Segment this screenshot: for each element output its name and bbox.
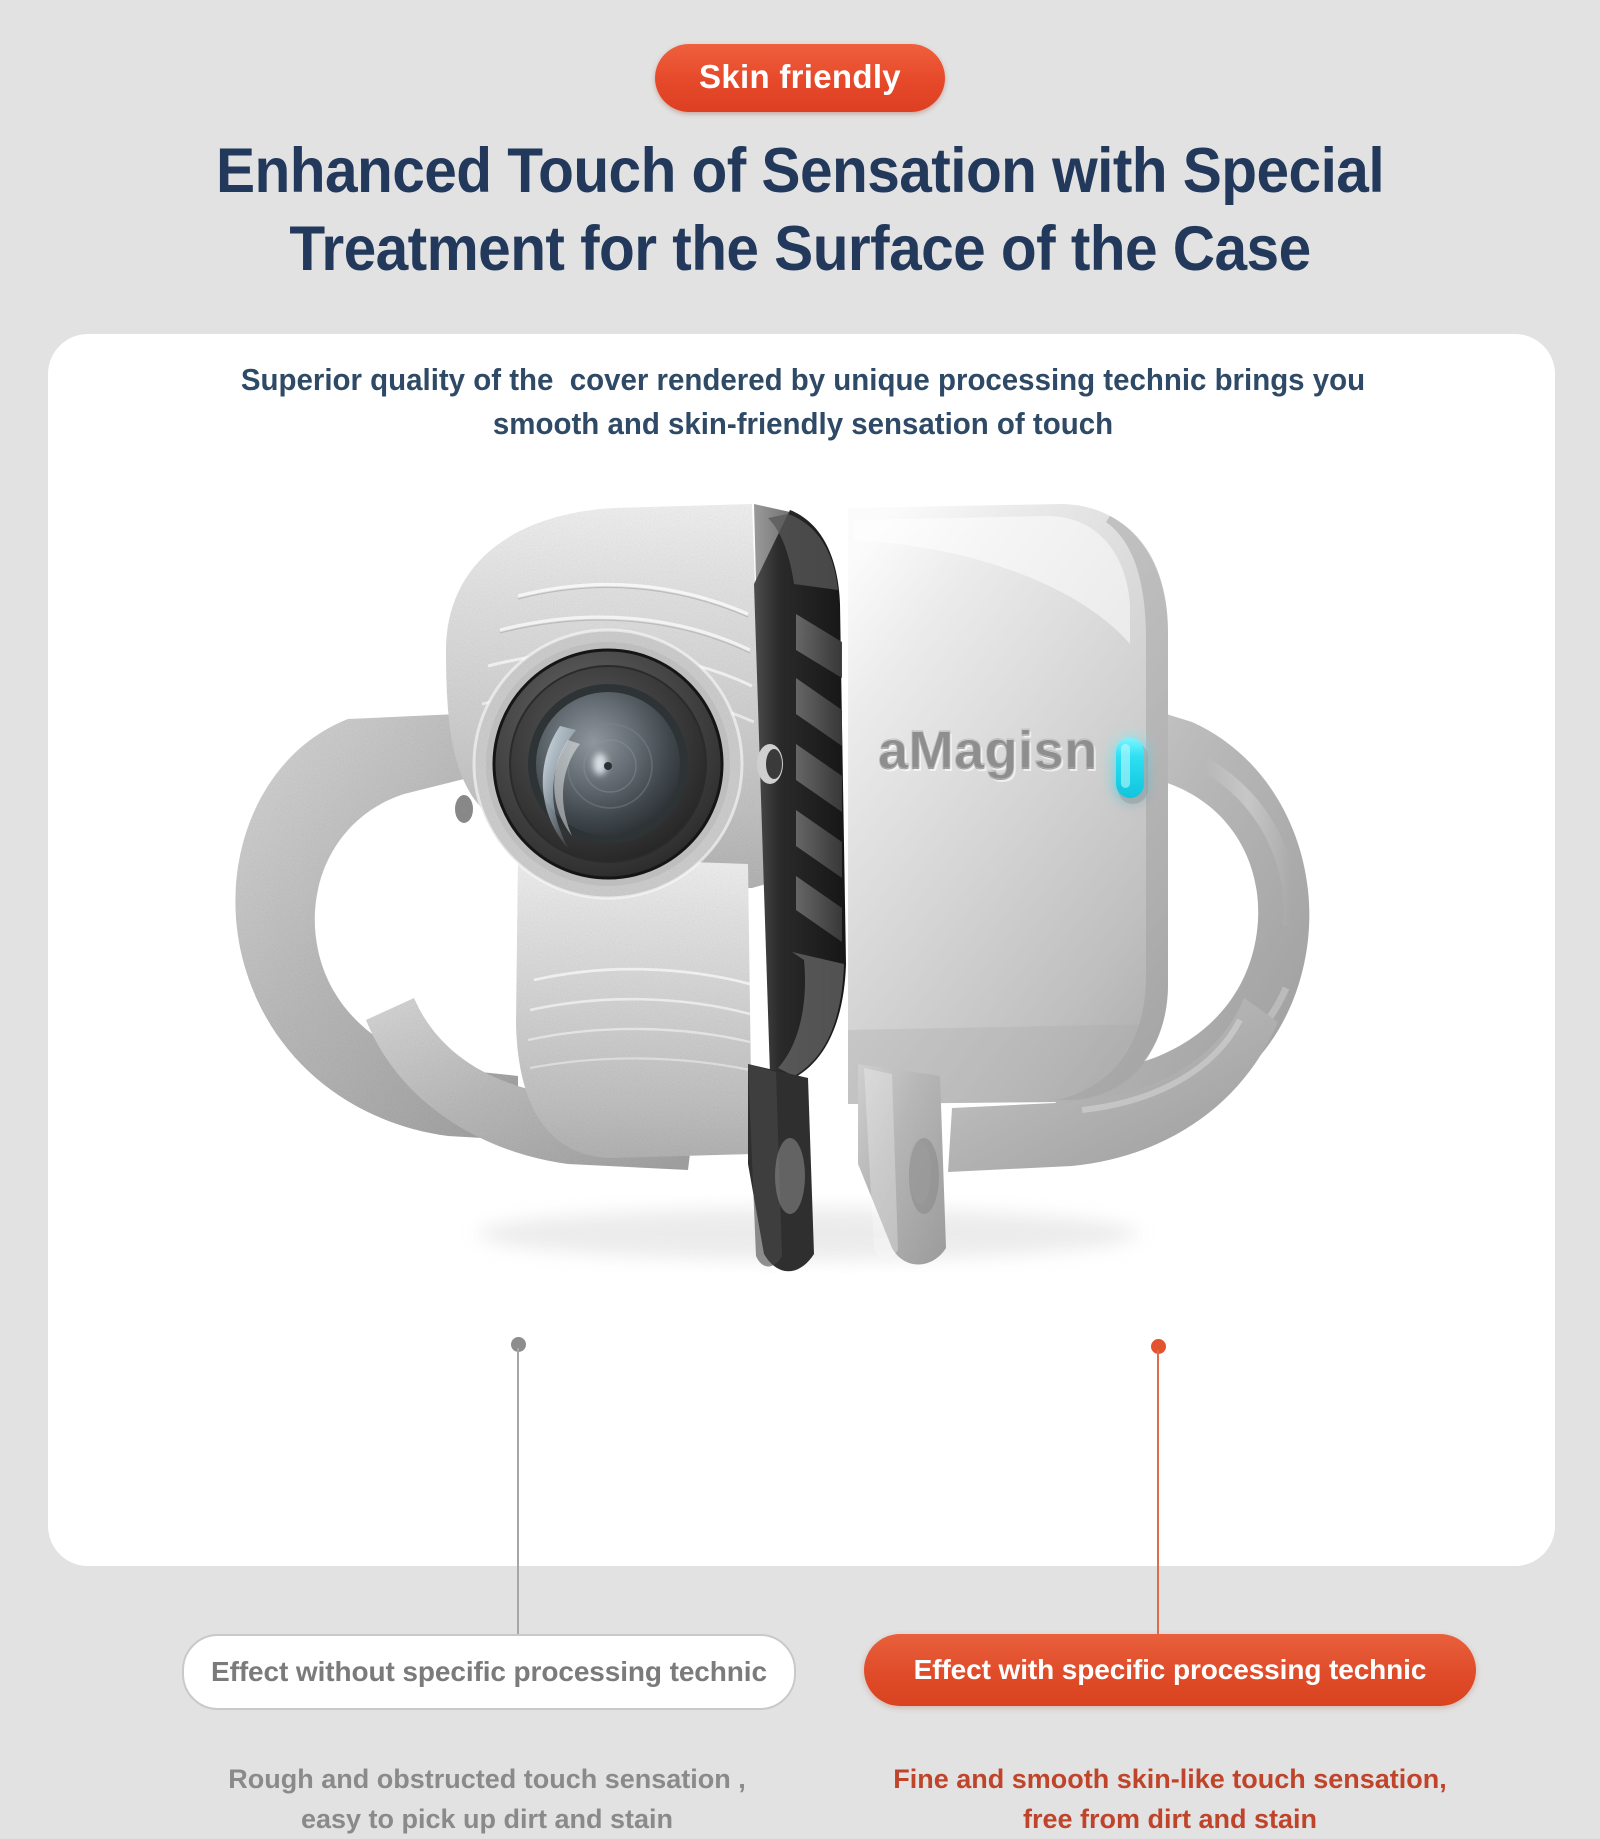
callout-line-left xyxy=(517,1348,519,1635)
page-title: Enhanced Touch of Sensation with Special… xyxy=(140,132,1461,288)
caption-without-technic: Rough and obstructed touch sensation , e… xyxy=(182,1759,792,1839)
brand-logo: aMagisn aMagisn aMagisn xyxy=(878,720,1100,783)
page-title-line-2: Treatment for the Surface of the Case xyxy=(140,210,1461,288)
smooth-half-group: aMagisn aMagisn aMagisn xyxy=(848,504,1309,1265)
caption-with-technic: Fine and smooth skin-like touch sensatio… xyxy=(864,1759,1476,1839)
content-card: Superior quality of the cover rendered b… xyxy=(48,334,1555,1566)
product-illustration: aMagisn aMagisn aMagisn xyxy=(48,464,1555,1284)
led-indicator xyxy=(1116,738,1148,804)
label-with-technic: Effect with specific processing technic xyxy=(864,1634,1476,1706)
cross-section-cut xyxy=(748,504,846,1271)
skin-friendly-badge: Skin friendly xyxy=(655,44,945,112)
svg-text:aMagisn: aMagisn xyxy=(878,720,1098,780)
camera-lens xyxy=(474,630,742,898)
rough-half-group xyxy=(235,504,766,1170)
label-without-technic: Effect without specific processing techn… xyxy=(182,1634,796,1710)
page-title-line-1: Enhanced Touch of Sensation with Special xyxy=(140,132,1461,210)
callout-line-right xyxy=(1157,1350,1159,1635)
card-subtitle: Superior quality of the cover rendered b… xyxy=(200,358,1407,446)
skin-friendly-badge-container: Skin friendly xyxy=(0,44,1600,112)
